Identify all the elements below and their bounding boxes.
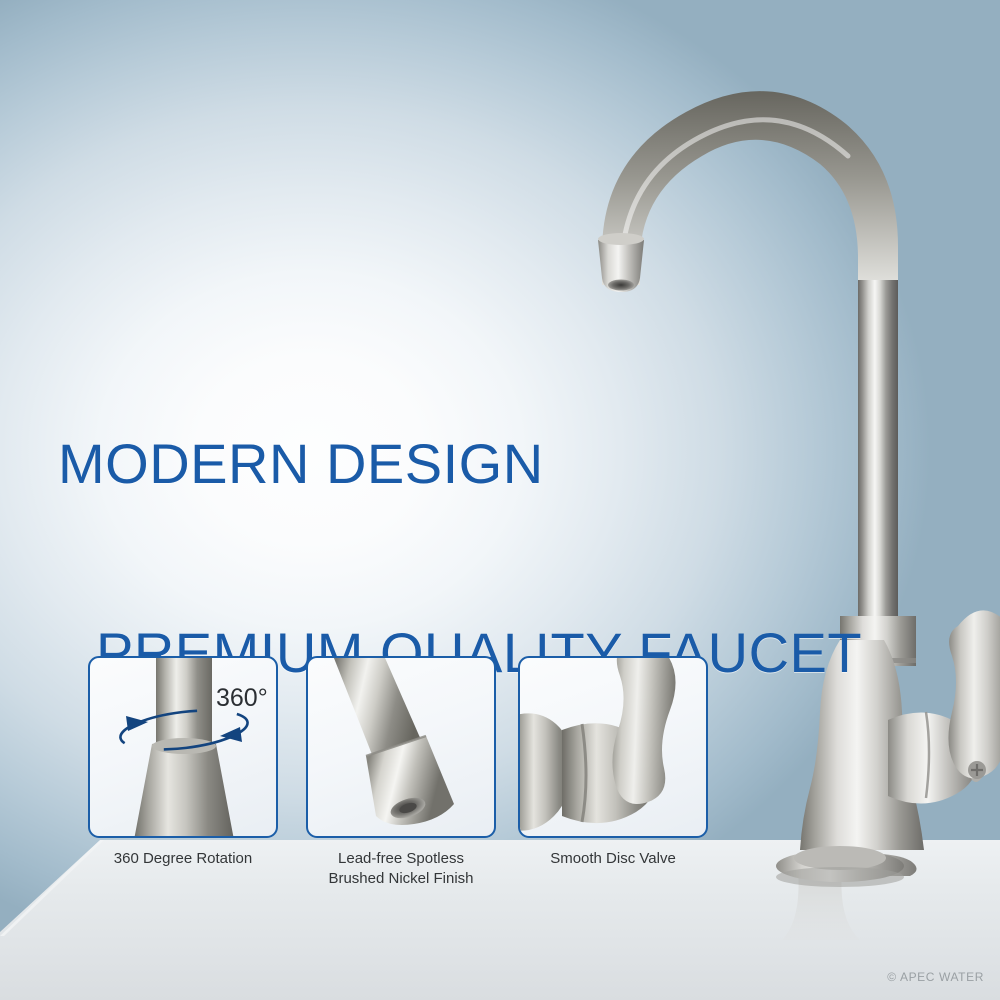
caption-line: Smooth Disc Valve: [518, 849, 708, 869]
feature-image-finish: [306, 656, 496, 838]
feature-callout-group: 360° 360 Degree Rotation: [88, 656, 728, 916]
headline-line-1: MODERN DESIGN: [58, 433, 862, 496]
caption-line: Brushed Nickel Finish: [306, 869, 496, 889]
feature-callout-valve: Smooth Disc Valve: [518, 656, 708, 869]
faucet-spout-tip: [598, 233, 644, 292]
caption-line: Lead-free Spotless: [306, 849, 496, 869]
feature-caption-valve: Smooth Disc Valve: [518, 849, 708, 869]
rotation-badge-text: 360°: [216, 684, 268, 712]
feature-callout-rotation: 360° 360 Degree Rotation: [88, 656, 278, 869]
feature-image-valve: [518, 656, 708, 838]
feature-caption-rotation: 360 Degree Rotation: [88, 849, 278, 869]
faucet-base: [776, 846, 917, 887]
caption-line: 360 Degree Rotation: [88, 849, 278, 869]
feature-image-rotation: 360°: [88, 656, 278, 838]
product-marketing-image: MODERN DESIGN PREMIUM QUALITY FAUCET: [0, 0, 1000, 1000]
feature-caption-finish: Lead-free Spotless Brushed Nickel Finish: [306, 849, 496, 890]
feature-callout-finish: Lead-free Spotless Brushed Nickel Finish: [306, 656, 496, 890]
copyright-watermark: © APEC WATER: [887, 970, 984, 984]
faucet-lever-handle: [948, 610, 1000, 779]
